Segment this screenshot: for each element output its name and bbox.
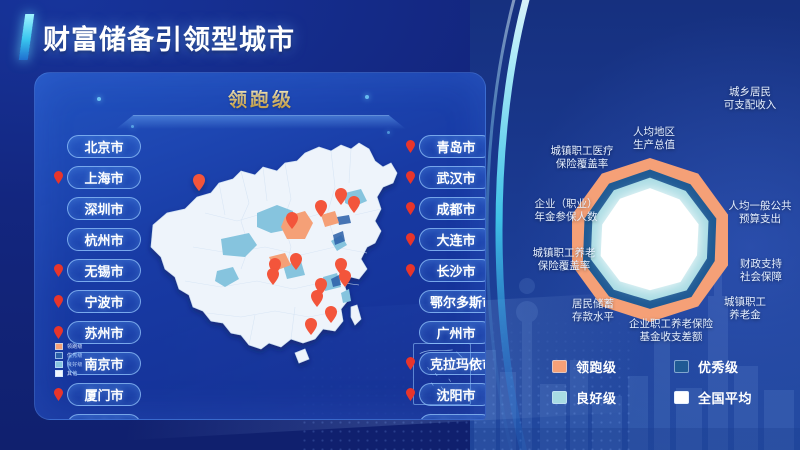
header: 财富储备引领型城市 [22,14,295,60]
list-item[interactable]: 厦门市 [51,381,141,408]
page-title: 财富储备引领型城市 [43,18,295,57]
slide-canvas: 财富储备引领型城市 领跑级 [0,0,800,450]
radar-legend-swatch-excellent [674,360,689,373]
radar-legend-item-leader: 领跑级 [552,357,660,376]
city-pill[interactable]: 天津市 [67,414,141,420]
city-pill[interactable]: 苏州市 [67,321,141,344]
radar-legend-label-national-average: 全国平均 [698,388,752,407]
location-pin-icon [403,357,417,370]
radar-label-household-savings: 居民储蓄 存款水平 [556,298,630,324]
list-item[interactable]: 杭州市 [51,226,141,253]
china-map [145,117,405,407]
radar-legend: 领跑级 优秀级 良好级 全国平均 [552,357,782,407]
location-pin-icon [403,233,417,246]
location-pin-icon [51,357,65,370]
radar-legend-swatch-good [552,391,567,404]
list-item[interactable]: 苏州市 [51,319,141,346]
city-pill[interactable]: 宁波市 [67,290,141,313]
city-pill[interactable]: 南京市 [67,352,141,375]
list-item[interactable]: 长沙市 [403,257,486,284]
list-item[interactable]: 武汉市 [403,164,486,191]
radar-label-disposable-income: 城乡居民 可支配收入 [700,86,800,112]
list-item[interactable]: 宁波市 [51,288,141,315]
city-pill[interactable]: 北京市 [67,135,141,158]
list-item[interactable]: 鄂尔多斯市 [403,288,486,315]
city-pill[interactable]: 鄂尔多斯市 [419,290,486,313]
panel-badge: 领跑级 [35,85,486,112]
location-pin-icon [51,264,65,277]
list-item[interactable]: 青岛市 [403,133,486,160]
location-pin-icon [51,419,65,420]
list-item[interactable]: 无锡市 [51,257,141,284]
city-pill[interactable]: 沈阳市 [419,383,486,406]
location-pin-icon [51,295,65,308]
location-pin-icon [51,233,65,246]
city-pill[interactable]: 武汉市 [419,166,486,189]
city-column-right: 青岛市 武汉市 成都市 大连市 长沙市 鄂尔多斯市 [403,133,486,420]
location-pin-icon [51,326,65,339]
city-pill[interactable]: 长沙市 [419,259,486,282]
location-pin-icon [51,140,65,153]
radar-label-public-budget-expenditure: 人均一般公共 预算支出 [720,200,800,226]
list-item[interactable]: 北京市 [51,133,141,160]
list-item[interactable]: 沈阳市 [403,381,486,408]
list-item[interactable]: 克拉玛依市 [403,350,486,377]
list-item[interactable]: 深圳市 [51,195,141,222]
radar-label-annuity-participants: 企业（职业） 年金参保人数 [518,198,614,224]
radar-legend-swatch-national-average [674,391,689,404]
radar-legend-label-excellent: 优秀级 [698,357,739,376]
panel-badge-label: 领跑级 [228,90,294,111]
location-pin-icon [403,202,417,215]
location-pin-icon [403,419,417,420]
list-item[interactable]: 天津市 [51,412,141,420]
city-pill[interactable]: 克拉玛依市 [419,352,486,375]
location-pin-icon [51,202,65,215]
city-pill[interactable]: 大连市 [419,228,486,251]
city-pill[interactable]: 绍兴市 [419,414,486,420]
radar-legend-label-good: 良好级 [576,388,617,407]
city-pill[interactable]: 上海市 [67,166,141,189]
list-item[interactable]: 绍兴市 [403,412,486,420]
location-pin-icon [403,295,417,308]
city-pill[interactable]: 深圳市 [67,197,141,220]
city-pill[interactable]: 广州市 [419,321,486,344]
radar-label-medical-coverage: 城镇职工医疗 保险覆盖率 [534,145,630,171]
city-pill[interactable]: 青岛市 [419,135,486,158]
location-pin-icon [51,171,65,184]
location-pin-icon [51,388,65,401]
location-pin-icon [403,140,417,153]
radar-label-pension-coverage: 城镇职工养老 保险覆盖率 [518,247,610,273]
list-item[interactable]: 广州市 [403,319,486,346]
city-pill[interactable]: 厦门市 [67,383,141,406]
radar-legend-label-leader: 领跑级 [576,357,617,376]
list-item[interactable]: 南京市 [51,350,141,377]
radar-legend-item-good: 良好级 [552,388,660,407]
location-pin-icon [403,326,417,339]
city-pill[interactable]: 杭州市 [67,228,141,251]
list-item[interactable]: 大连市 [403,226,486,253]
city-pill[interactable]: 无锡市 [67,259,141,282]
location-pin-icon [403,264,417,277]
list-item[interactable]: 上海市 [51,164,141,191]
location-pin-icon [403,171,417,184]
city-pill[interactable]: 成都市 [419,197,486,220]
radar-legend-swatch-leader [552,360,567,373]
title-accent-bar [19,14,34,60]
radar-label-fiscal-social-security: 财政支持 社会保障 [724,258,798,284]
list-item[interactable]: 成都市 [403,195,486,222]
city-column-left: 北京市 上海市 深圳市 杭州市 无锡市 宁波市 [51,133,141,420]
radar-legend-item-excellent: 优秀级 [674,357,782,376]
leader-cities-panel: 领跑级 [34,72,486,420]
radar-legend-item-national-average: 全国平均 [674,388,782,407]
location-pin-icon [403,388,417,401]
